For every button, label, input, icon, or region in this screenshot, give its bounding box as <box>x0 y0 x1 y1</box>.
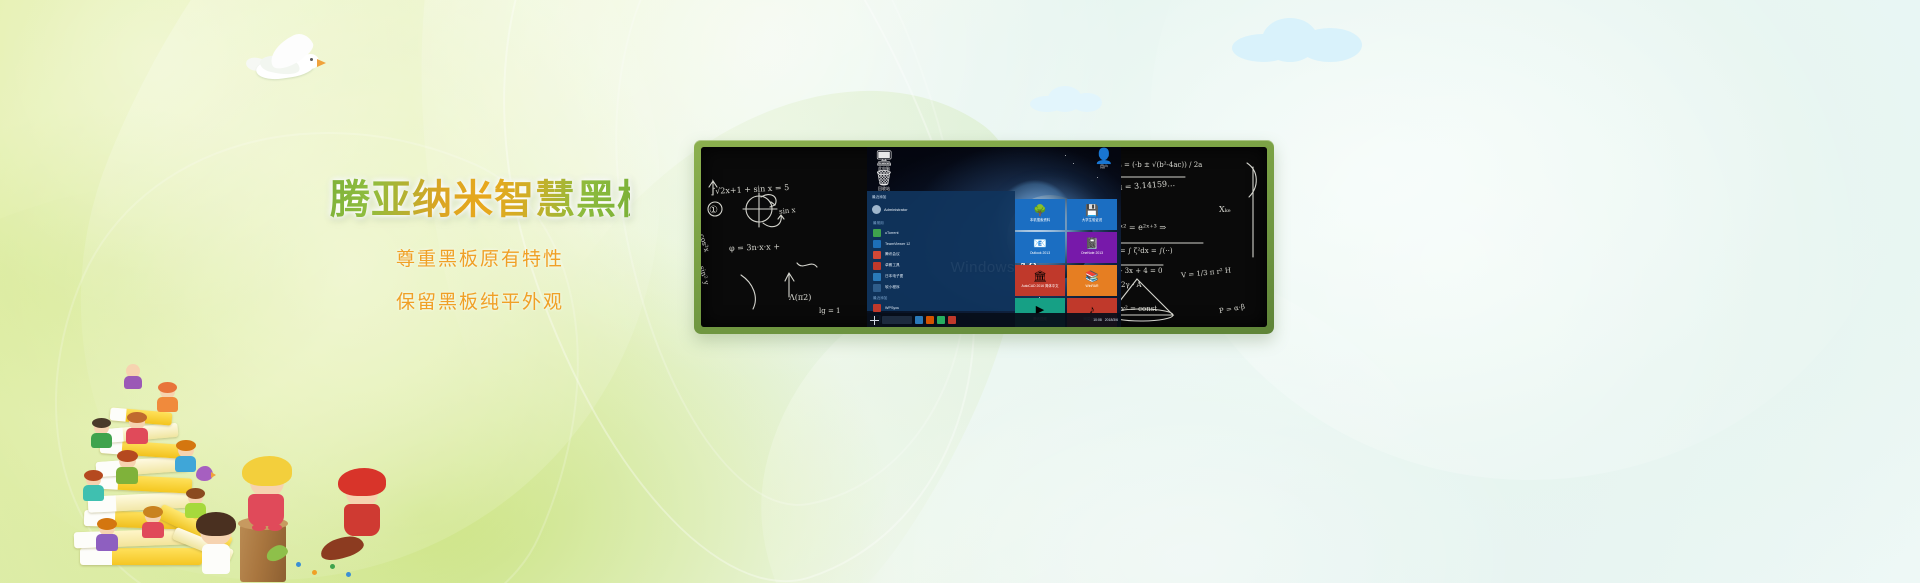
start-menu-app[interactable]: TeamViewer 12 <box>867 238 1015 249</box>
taskbar-icon-media[interactable] <box>948 316 956 324</box>
start-menu-panel[interactable]: 最近添加 Administrator 最常用 uTorrent TeamView… <box>867 191 1015 311</box>
tile-label: 大学生验证说 <box>1081 219 1103 223</box>
start-tile[interactable]: 📚WinRAR <box>1067 265 1117 296</box>
page-title: 腾亚纳米智慧黑板 <box>330 178 630 222</box>
child-figure <box>94 520 120 554</box>
child-figure <box>114 452 140 486</box>
clock: 10:08 <box>1093 318 1102 322</box>
date: 2018/3/6 <box>1105 318 1118 322</box>
tile-label: 本机搜索资料 <box>1029 219 1051 223</box>
desktop-icon-label: 用户 <box>1100 164 1108 169</box>
start-tile[interactable]: 📓OneNote 2013 <box>1067 232 1117 263</box>
app-icon <box>873 240 881 248</box>
tile-label: AutoCAD 2016 简体中文 <box>1020 285 1059 289</box>
marble-decor <box>312 570 317 575</box>
this-pc-icon: 🖥 <box>871 151 897 167</box>
child-figure <box>90 420 114 450</box>
start-tile[interactable]: 📧Outlook 2013 <box>1015 232 1065 263</box>
marble-decor <box>346 572 351 577</box>
app-icon <box>873 284 881 292</box>
tile-icon: 📧 <box>1033 239 1047 250</box>
app-group-title: 最近添加 <box>867 293 1015 302</box>
app-label: WPSyou <box>885 306 899 310</box>
child-figure <box>122 364 144 390</box>
blackboard-surface: ∫√2x+1 + sin x = 5 ① sin x φ = 3n·x·x + … <box>701 147 1267 327</box>
windows-taskbar[interactable]: 10:08 2018/3/6 <box>867 313 1121 327</box>
app-icon <box>873 273 881 281</box>
start-menu-app[interactable]: WPSyou <box>867 302 1015 313</box>
recycle-bin-icon: 🗑 <box>871 171 897 187</box>
tile-label: WinRAR <box>1085 285 1100 289</box>
app-label: 日本电子图 <box>885 274 903 279</box>
marble-decor <box>296 562 301 567</box>
app-label: TeamViewer 12 <box>885 242 910 246</box>
start-menu-app[interactable]: 日本电子图 <box>867 271 1015 282</box>
app-icon <box>873 229 881 237</box>
children-books-illustration <box>44 366 394 583</box>
start-menu-tiles[interactable]: 🌳本机搜索资料 💾大学生验证说 📧Outlook 2013 📓OneNote 2… <box>1015 199 1117 309</box>
bird-icon <box>196 466 213 481</box>
subtitle-block: 尊重黑板原有特性 保留黑板纯平外观 <box>330 248 630 314</box>
start-tile[interactable]: 🏛AutoCAD 2016 简体中文 <box>1015 265 1065 296</box>
chalk-diagram-right <box>1107 147 1267 327</box>
start-menu-app[interactable]: 卓朗工具 <box>867 260 1015 271</box>
start-menu-account[interactable]: Administrator <box>867 202 1015 218</box>
tile-icon: 💾 <box>1085 206 1099 217</box>
taskbar-search-input[interactable] <box>882 316 912 324</box>
child-figure <box>82 472 106 504</box>
tile-icon: 🏛 <box>1033 272 1047 283</box>
promo-banner: 腾亚纳米智慧黑板 尊重黑板原有特性 保留黑板纯平外观 ∫√2x+1 + sin … <box>0 0 1920 583</box>
tile-icon: 🌳 <box>1033 206 1047 217</box>
tile-label: Outlook 2013 <box>1029 252 1051 256</box>
start-menu-app[interactable]: 腾讯会议 <box>867 249 1015 260</box>
account-name: Administrator <box>884 207 908 212</box>
app-icon <box>873 262 881 270</box>
chalk-diagram-left <box>701 147 867 327</box>
avatar <box>872 205 881 214</box>
app-label: 软小程序 <box>885 285 900 290</box>
start-menu-header: 最近添加 <box>867 191 1015 202</box>
taskbar-icon-app[interactable] <box>937 316 945 324</box>
start-menu-app[interactable]: uTorrent <box>867 227 1015 238</box>
child-violinist-figure <box>240 462 296 530</box>
app-label: 腾讯会议 <box>885 252 900 257</box>
taskbar-icon-browser[interactable] <box>926 316 934 324</box>
desktop-icon-user-folder[interactable]: 👤 用户 <box>1091 149 1117 170</box>
app-icon <box>873 304 881 312</box>
child-violinist-figure-2 <box>336 474 390 540</box>
start-menu-app[interactable]: 软小程序 <box>867 282 1015 293</box>
subtitle-line-2: 保留黑板纯平外观 <box>330 291 630 314</box>
chalk-writing-right: π = 3.14159… Xₖₑ eˣ² = e²ˣ⁺³ ⇒ ζₒ = ∫ ζ²… <box>1107 147 1267 327</box>
desktop-icon-this-pc[interactable]: 🖥 此电脑 <box>871 151 897 172</box>
windows-screen: Windows 10 🖥 此电脑 🗑 回收站 👤 用户 最近添加 <box>867 147 1121 327</box>
child-figure <box>174 442 198 474</box>
app-icon <box>873 251 881 259</box>
child-figure <box>156 384 180 414</box>
dove-icon <box>244 34 336 90</box>
tile-icon: 📓 <box>1085 239 1099 250</box>
child-figure <box>140 508 166 542</box>
app-group-title: 最常用 <box>867 218 1015 227</box>
subtitle-line-1: 尊重黑板原有特性 <box>330 248 630 271</box>
chalk-writing-left: ∫√2x+1 + sin x = 5 ① sin x φ = 3n·x·x + … <box>701 147 867 327</box>
start-tile[interactable]: 💾大学生验证说 <box>1067 199 1117 230</box>
marble-decor <box>330 564 335 569</box>
app-label: uTorrent <box>885 231 899 235</box>
tile-icon: 📚 <box>1085 272 1099 283</box>
desktop-icon-recycle-bin[interactable]: 🗑 回收站 <box>871 171 897 192</box>
user-folder-icon: 👤 <box>1091 149 1117 165</box>
app-label: 卓朗工具 <box>885 263 900 268</box>
child-sitting-figure <box>192 516 240 578</box>
windows-start-button[interactable] <box>870 316 879 325</box>
tile-label: OneNote 2013 <box>1080 252 1104 256</box>
taskbar-icon-explorer[interactable] <box>915 316 923 324</box>
headline-block: 腾亚纳米智慧黑板 尊重黑板原有特性 保留黑板纯平外观 <box>330 178 630 314</box>
start-tile[interactable]: 🌳本机搜索资料 <box>1015 199 1065 230</box>
smart-blackboard-device: ∫√2x+1 + sin x = 5 ① sin x φ = 3n·x·x + … <box>694 140 1274 334</box>
system-tray[interactable]: 10:08 2018/3/6 <box>1093 318 1118 322</box>
child-figure <box>124 414 150 446</box>
